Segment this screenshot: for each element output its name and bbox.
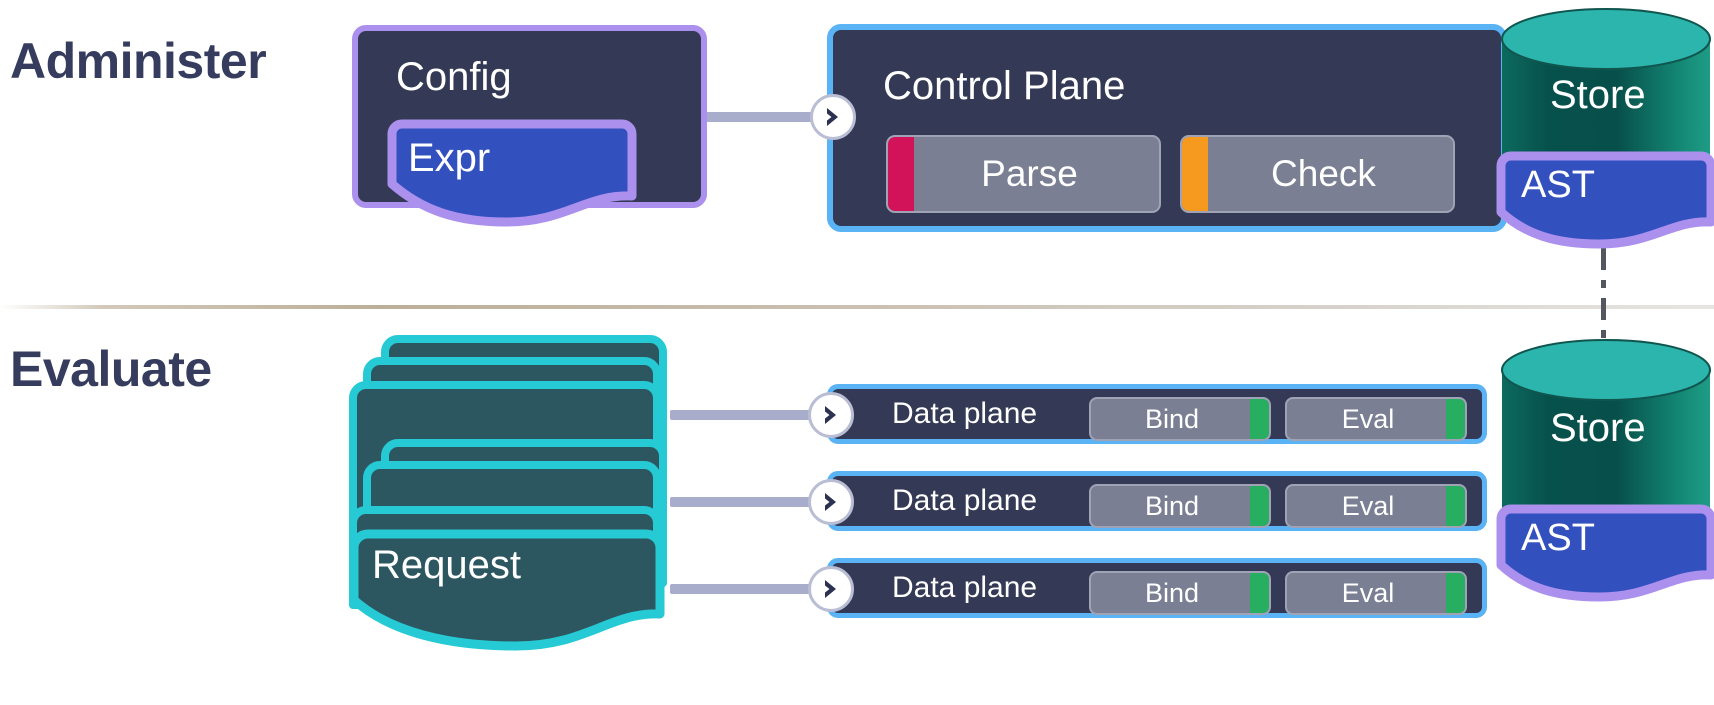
request-label: Request	[372, 543, 521, 588]
stage-chip-check[interactable]: Check	[1180, 135, 1455, 213]
store-label-administer: Store	[1550, 73, 1646, 118]
ast-label-evaluate: AST	[1521, 517, 1595, 560]
check-label: Check	[1259, 153, 1376, 195]
connector-request-to-data-plane-2	[670, 497, 815, 507]
eval-label-1: Eval	[1342, 404, 1411, 435]
ast-document-evaluate[interactable]: AST	[1495, 503, 1714, 603]
section-title-evaluate: Evaluate	[10, 340, 212, 398]
control-plane-label: Control Plane	[883, 64, 1125, 109]
bind-accent-bar	[1250, 399, 1269, 439]
connector-request-to-data-plane-1	[670, 410, 815, 420]
eval-accent-bar	[1446, 486, 1465, 526]
ast-label-administer: AST	[1521, 164, 1595, 207]
bind-label-3: Bind	[1145, 578, 1215, 609]
chevron-right-icon[interactable]	[808, 566, 854, 612]
expr-label: Expr	[408, 136, 490, 181]
connector-config-to-control-plane	[705, 112, 825, 122]
parse-label: Parse	[969, 153, 1078, 195]
bind-label-1: Bind	[1145, 404, 1215, 435]
stage-chip-parse[interactable]: Parse	[886, 135, 1161, 213]
stage-chip-eval-2[interactable]: Eval	[1285, 484, 1467, 528]
expr-document-shape[interactable]: Expr	[386, 118, 638, 228]
bind-accent-bar	[1250, 573, 1269, 613]
eval-label-3: Eval	[1342, 578, 1411, 609]
stage-chip-eval-1[interactable]: Eval	[1285, 397, 1467, 441]
stage-chip-bind-2[interactable]: Bind	[1089, 484, 1271, 528]
section-divider	[0, 305, 1714, 309]
chevron-right-icon[interactable]	[810, 94, 856, 140]
request-document-front[interactable]: Request	[348, 528, 666, 653]
config-label: Config	[396, 55, 512, 100]
stage-chip-eval-3[interactable]: Eval	[1285, 571, 1467, 615]
diagram-canvas: Administer Config Expr Control Plane Par…	[0, 0, 1714, 705]
eval-label-2: Eval	[1342, 491, 1411, 522]
section-title-administer: Administer	[10, 32, 266, 90]
parse-accent-bar	[888, 137, 914, 211]
chevron-right-icon[interactable]	[808, 392, 854, 438]
chevron-right-icon[interactable]	[808, 479, 854, 525]
ast-document-administer[interactable]: AST	[1495, 150, 1714, 250]
check-accent-bar	[1182, 137, 1208, 211]
connector-request-to-data-plane-3	[670, 584, 815, 594]
bind-label-2: Bind	[1145, 491, 1215, 522]
eval-accent-bar	[1446, 573, 1465, 613]
data-plane-label-3: Data plane	[892, 571, 1037, 605]
store-label-evaluate: Store	[1550, 406, 1646, 451]
data-plane-label-2: Data plane	[892, 484, 1037, 518]
stage-chip-bind-3[interactable]: Bind	[1089, 571, 1271, 615]
stage-chip-bind-1[interactable]: Bind	[1089, 397, 1271, 441]
bind-accent-bar	[1250, 486, 1269, 526]
data-plane-label-1: Data plane	[892, 397, 1037, 431]
eval-accent-bar	[1446, 399, 1465, 439]
